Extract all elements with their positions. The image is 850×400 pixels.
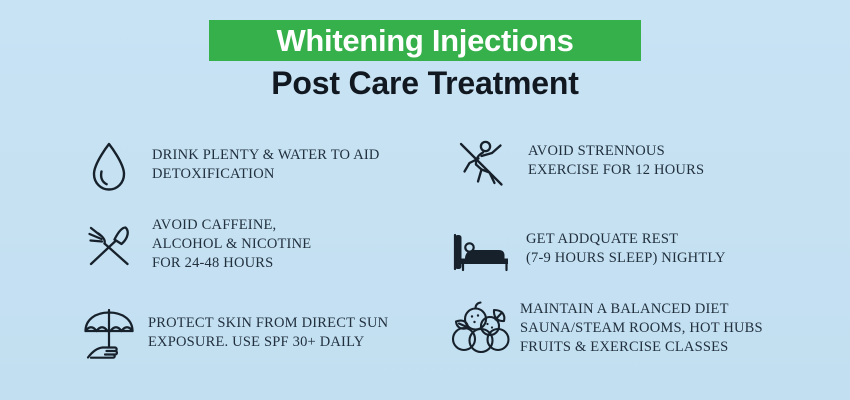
tip-line: DRINK PLENTY & WATER TO AID: [152, 146, 458, 165]
page-title: Whitening Injections: [276, 25, 573, 56]
tip-line: EXPOSURE. USE SPF 30+ DAILY: [148, 333, 458, 352]
tip-item-protect-skin: PROTECT SKIN FROM DIRECT SUN EXPOSURE. U…: [78, 306, 458, 364]
page-subtitle: Post Care Treatment: [0, 64, 850, 102]
title-banner: Whitening Injections: [209, 20, 641, 61]
tip-line: AVOID CAFFEINE,: [152, 216, 458, 235]
tip-text-drink-water: DRINK PLENTY & WATER TO AID DETOXIFICATI…: [140, 138, 458, 184]
tips-grid: DRINK PLENTY & WATER TO AID DETOXIFICATI…: [0, 126, 850, 392]
tip-line: (7-9 HOURS SLEEP) NIGHTLY: [526, 249, 830, 268]
infographic-root: Whitening Injections Post Care Treatment…: [0, 0, 850, 400]
tip-line: ALCOHOL & NICOTINE: [152, 235, 458, 254]
tip-text-adequate-rest: GET ADDQUATE REST (7-9 HOURS SLEEP) NIGH…: [512, 224, 830, 268]
tip-line: GET ADDQUATE REST: [526, 230, 830, 249]
tip-text-balanced-diet: MAINTAIN A BALANCED DIET SAUNA/STEAM ROO…: [512, 300, 830, 357]
tip-line: FOR 24-48 HOURS: [152, 254, 458, 273]
tips-column-left: DRINK PLENTY & WATER TO AID DETOXIFICATI…: [78, 126, 458, 392]
crossed-fork-knife-icon: [78, 216, 140, 274]
tip-line: PROTECT SKIN FROM DIRECT SUN: [148, 314, 458, 333]
tip-line: AVOID STRENNOUS: [528, 142, 830, 161]
water-drop-icon: [78, 138, 140, 196]
tip-text-avoid-caffeine: AVOID CAFFEINE, ALCOHOL & NICOTINE FOR 2…: [140, 216, 458, 273]
tip-line: EXERCISE FOR 12 HOURS: [528, 161, 830, 180]
umbrella-hand-icon: [78, 306, 140, 364]
no-running-icon: [450, 134, 512, 192]
tip-line: FRUITS & EXERCISE CLASSES: [520, 338, 830, 357]
tips-column-right: AVOID STRENNOUS EXERCISE FOR 12 HOURS: [450, 126, 830, 392]
tip-line: MAINTAIN A BALANCED DIET: [520, 300, 830, 319]
tip-item-drink-water: DRINK PLENTY & WATER TO AID DETOXIFICATI…: [78, 138, 458, 196]
tip-text-protect-skin: PROTECT SKIN FROM DIRECT SUN EXPOSURE. U…: [140, 306, 458, 352]
tip-item-avoid-exercise: AVOID STRENNOUS EXERCISE FOR 12 HOURS: [450, 134, 830, 192]
tip-line: SAUNA/STEAM ROOMS, HOT HUBS: [520, 319, 830, 338]
tip-item-adequate-rest: GET ADDQUATE REST (7-9 HOURS SLEEP) NIGH…: [450, 224, 830, 282]
tip-item-balanced-diet: MAINTAIN A BALANCED DIET SAUNA/STEAM ROO…: [450, 300, 830, 358]
tip-item-avoid-caffeine: AVOID CAFFEINE, ALCOHOL & NICOTINE FOR 2…: [78, 216, 458, 274]
tip-text-avoid-exercise: AVOID STRENNOUS EXERCISE FOR 12 HOURS: [512, 134, 830, 180]
fruits-icon: [450, 300, 512, 358]
tip-line: DETOXIFICATION: [152, 165, 458, 184]
bed-rest-icon: [450, 224, 512, 282]
